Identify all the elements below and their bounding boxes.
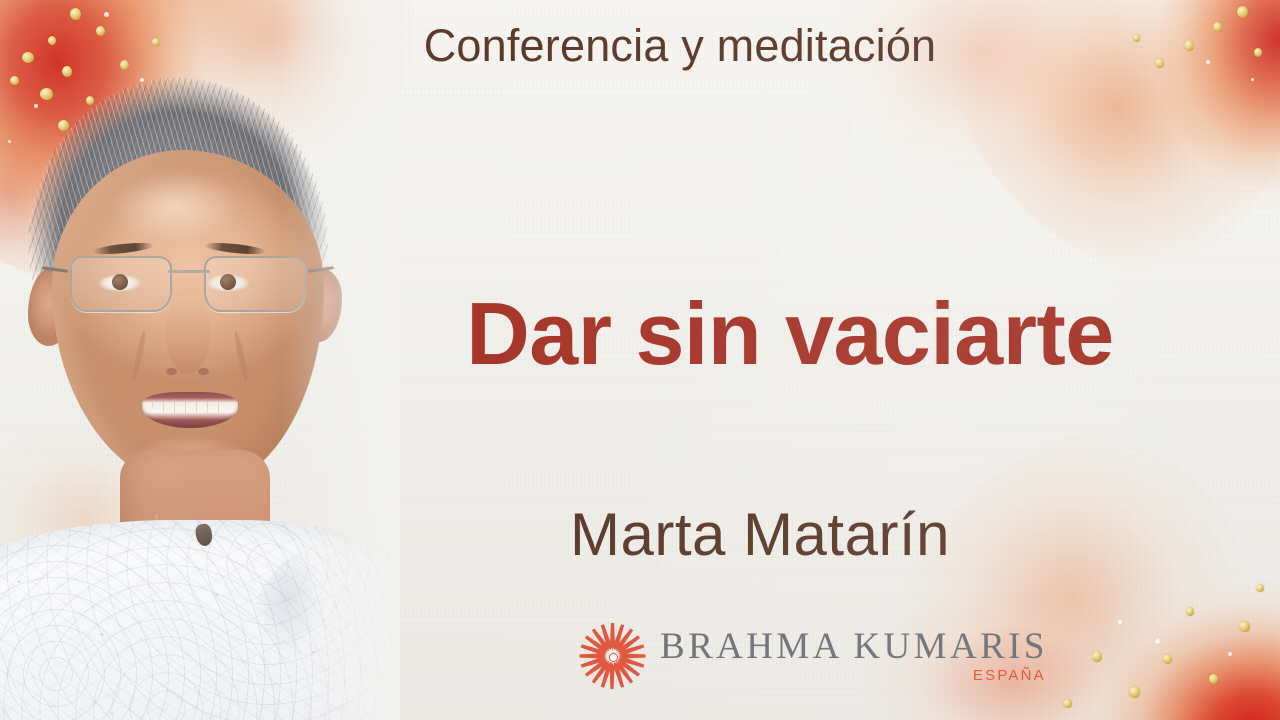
glasses-bridge <box>168 270 210 273</box>
logo-region: ESPAÑA <box>973 667 1046 684</box>
slide-title: Dar sin vaciarte <box>340 283 1240 385</box>
logo-wordmark: BRAHMA KUMARIS ESPAÑA <box>660 628 1048 685</box>
brahma-kumaris-logo: BRAHMA KUMARIS ESPAÑA <box>578 622 1048 690</box>
nostril-left <box>166 368 177 375</box>
sunburst-icon <box>578 622 646 690</box>
lens-left <box>70 256 172 312</box>
slide-heading: Conferencia y meditación <box>330 20 1030 72</box>
nose <box>166 300 210 374</box>
nostril-right <box>198 368 209 375</box>
teeth <box>152 399 228 413</box>
presentation-slide: Conferencia y meditación Dar sin vaciart… <box>0 0 1280 720</box>
logo-name: BRAHMA KUMARIS <box>660 628 1048 666</box>
forehead-highlight <box>110 172 240 242</box>
speaker-name: Marta Matarín <box>400 500 1120 569</box>
sunburst-hub <box>609 653 618 662</box>
